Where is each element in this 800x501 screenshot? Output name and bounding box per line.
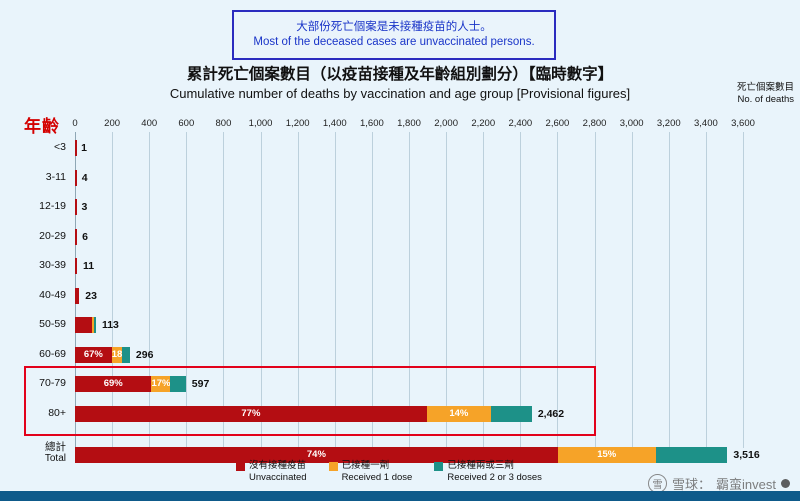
bar-row-<3 bbox=[75, 140, 743, 156]
x-tick-16: 3,200 bbox=[657, 118, 681, 129]
callout-text-zh: 大部份死亡個案是未接種疫苗的人士。 bbox=[296, 20, 492, 35]
bar-segment-one-10: 15% bbox=[558, 447, 656, 463]
bar-segment-unvax-4 bbox=[75, 258, 77, 274]
bar-segment-unvax-6 bbox=[75, 317, 92, 333]
x-tick-14: 2,800 bbox=[583, 118, 607, 129]
bar-pct-label-one-10: 15% bbox=[558, 447, 656, 463]
x-tick-18: 3,600 bbox=[731, 118, 755, 129]
row-label-6: 50-59 bbox=[0, 318, 66, 330]
bar-segment-unvax-5 bbox=[75, 288, 79, 304]
x-tick-8: 1,600 bbox=[360, 118, 384, 129]
axis-unit-label: 死亡個案數目 No. of deaths bbox=[737, 82, 794, 106]
row-label-en-10: Total bbox=[0, 453, 66, 465]
row-label-4: 30-39 bbox=[0, 259, 66, 271]
x-tick-4: 800 bbox=[216, 118, 232, 129]
row-label-zh-10: 總計 bbox=[0, 441, 66, 453]
bar-total-label-10: 3,516 bbox=[733, 447, 759, 463]
bar-row-60-69: 67%18% bbox=[75, 347, 743, 363]
bar-pct-label-one-7: 18% bbox=[112, 347, 122, 363]
bar-row-50-59 bbox=[75, 317, 743, 333]
bar-total-label-5: 23 bbox=[85, 288, 97, 304]
row-label-2: 12-19 bbox=[0, 200, 66, 212]
bar-segment-unvax-1 bbox=[75, 170, 77, 186]
row-label-3: 20-29 bbox=[0, 230, 66, 242]
row-label-zh-7: 60-69 bbox=[0, 348, 66, 360]
bar-total-label-1: 4 bbox=[82, 170, 88, 186]
legend-label-zh-0: 沒有接種疫苗 bbox=[249, 460, 307, 472]
x-tick-7: 1,400 bbox=[323, 118, 347, 129]
x-tick-12: 2,400 bbox=[508, 118, 532, 129]
legend-label-en-0: Unvaccinated bbox=[249, 472, 307, 484]
bar-segment-one-7: 18% bbox=[112, 347, 122, 363]
x-tick-11: 2,200 bbox=[471, 118, 495, 129]
row-label-zh-5: 40-49 bbox=[0, 289, 66, 301]
row-label-10: 總計Total bbox=[0, 441, 66, 465]
row-label-5: 40-49 bbox=[0, 289, 66, 301]
legend-label-en-2: Received 2 or 3 doses bbox=[447, 472, 542, 484]
bar-segment-two-10 bbox=[656, 447, 728, 463]
bar-segment-unvax-2 bbox=[75, 199, 77, 215]
legend-item-two-three-doses: 已接種兩或三劑 Received 2 or 3 doses bbox=[434, 460, 542, 483]
legend-swatch-two-three-doses bbox=[434, 462, 443, 471]
bottom-bar bbox=[0, 491, 800, 501]
bar-row-3-11 bbox=[75, 170, 743, 186]
watermark-dot-icon bbox=[781, 479, 790, 488]
bar-segment-unvax-0 bbox=[75, 140, 77, 156]
bar-total-label-7: 296 bbox=[136, 347, 154, 363]
axis-unit-zh: 死亡個案數目 bbox=[737, 82, 794, 94]
row-label-zh-4: 30-39 bbox=[0, 259, 66, 271]
bar-segment-unvax-3 bbox=[75, 229, 77, 245]
bar-total-label-4: 11 bbox=[83, 258, 94, 274]
x-tick-13: 2,600 bbox=[546, 118, 570, 129]
legend-swatch-unvaccinated bbox=[236, 462, 245, 471]
bar-total-label-2: 3 bbox=[82, 199, 88, 215]
x-tick-3: 600 bbox=[178, 118, 194, 129]
row-label-0: <3 bbox=[0, 141, 66, 153]
x-axis-ticks: 02004006008001,0001,2001,4001,6001,8002,… bbox=[75, 118, 743, 132]
chart-legend: 沒有接種疫苗 Unvaccinated 已接種一劑 Received 1 dos… bbox=[236, 460, 542, 483]
bar-segment-two-7 bbox=[122, 347, 130, 363]
x-tick-17: 3,400 bbox=[694, 118, 718, 129]
legend-item-one-dose: 已接種一劑 Received 1 dose bbox=[329, 460, 413, 483]
bar-row-40-49 bbox=[75, 288, 743, 304]
bar-total-label-0: 1 bbox=[81, 140, 87, 156]
x-tick-10: 2,000 bbox=[434, 118, 458, 129]
bar-total-label-6: 113 bbox=[102, 317, 119, 333]
callout-box: 大部份死亡個案是未接種疫苗的人士。 Most of the deceased c… bbox=[232, 10, 556, 60]
row-label-zh-2: 12-19 bbox=[0, 200, 66, 212]
gridline-18 bbox=[743, 132, 744, 448]
x-tick-5: 1,000 bbox=[249, 118, 273, 129]
chart-page: 大部份死亡個案是未接種疫苗的人士。 Most of the deceased c… bbox=[0, 0, 800, 501]
age-axis-label: 年齡 bbox=[24, 112, 60, 137]
chart-title-en: Cumulative number of deaths by vaccinati… bbox=[0, 86, 800, 101]
row-label-7: 60-69 bbox=[0, 348, 66, 360]
x-tick-15: 3,000 bbox=[620, 118, 644, 129]
legend-item-unvaccinated: 沒有接種疫苗 Unvaccinated bbox=[236, 460, 307, 483]
x-tick-6: 1,200 bbox=[286, 118, 310, 129]
bar-row-20-29 bbox=[75, 229, 743, 245]
bar-total-label-3: 6 bbox=[82, 229, 88, 245]
x-tick-1: 200 bbox=[104, 118, 120, 129]
x-tick-9: 1,800 bbox=[397, 118, 421, 129]
callout-text-en: Most of the deceased cases are unvaccina… bbox=[253, 35, 534, 50]
x-tick-2: 400 bbox=[141, 118, 157, 129]
bar-pct-label-unvax-7: 67% bbox=[75, 347, 112, 363]
bar-row-30-39 bbox=[75, 258, 743, 274]
legend-label-en-1: Received 1 dose bbox=[342, 472, 413, 484]
legend-swatch-one-dose bbox=[329, 462, 338, 471]
axis-unit-en: No. of deaths bbox=[737, 94, 794, 106]
bar-segment-two-6 bbox=[94, 317, 96, 333]
highlight-rect bbox=[24, 366, 596, 436]
legend-label-zh-1: 已接種一劑 bbox=[342, 460, 413, 472]
legend-label-zh-2: 已接種兩或三劑 bbox=[447, 460, 542, 472]
row-label-zh-3: 20-29 bbox=[0, 230, 66, 242]
x-tick-0: 0 bbox=[72, 118, 77, 129]
row-label-1: 3-11 bbox=[0, 171, 66, 183]
row-label-zh-0: <3 bbox=[0, 141, 66, 153]
bar-row-12-19 bbox=[75, 199, 743, 215]
bar-segment-unvax-7: 67% bbox=[75, 347, 112, 363]
row-label-zh-1: 3-11 bbox=[0, 171, 66, 183]
chart-title-zh: 累計死亡個案數目（以疫苗接種及年齡組別劃分）【臨時數字】 bbox=[0, 62, 800, 84]
row-label-zh-6: 50-59 bbox=[0, 318, 66, 330]
